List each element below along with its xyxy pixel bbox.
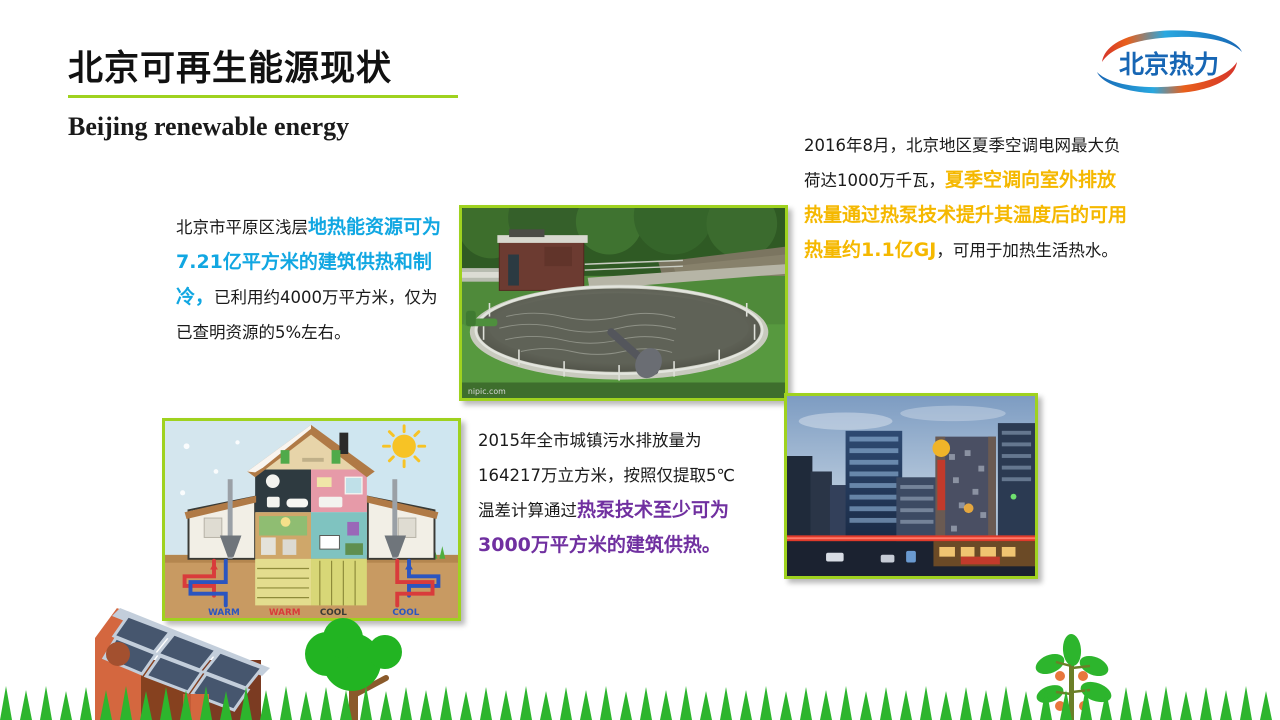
photo-watermark: nipic.com (468, 387, 506, 396)
geothermal-run-plain-1: 北京市平原区浅层 (176, 218, 308, 237)
house-diagram-image: WARM WARM COOL COOL (165, 421, 458, 618)
wastewater-treatment-plant-photo: nipic.com (459, 205, 788, 401)
slide-canvas: 北京热力 北京可再生能源现状 Beijing renewable energy … (0, 0, 1280, 720)
sun-icon (384, 426, 425, 467)
beijing-city-skyline-photo (784, 393, 1038, 579)
wwtp-image: nipic.com (462, 208, 785, 398)
city-image (787, 396, 1035, 576)
page-title: 北京可再生能源现状 (68, 50, 488, 89)
ac-run-plain-2: ，可用于加热生活热水。 (936, 241, 1118, 260)
geothermal-resource-text: 北京市平原区浅层地热能资源可为7.21亿平方米的建筑供热和制冷，已利用约4000… (176, 210, 444, 350)
geothermal-run-plain-2: 已利用约4000万平方米，仅为已查明资源的5%左右。 (176, 288, 438, 342)
page-subtitle: Beijing renewable energy (68, 112, 488, 142)
bottom-decoration (0, 590, 1280, 720)
air-conditioning-waste-heat-text: 2016年8月，北京地区夏季空调电网最大负荷达1000万千瓦，夏季空调向室外排放… (804, 128, 1130, 268)
sewage-heat-text: 2015年全市城镇污水排放量为164217万立方米，按照仅提取5℃温差计算通过热… (478, 423, 736, 563)
logo-wordmark: 北京热力 (1119, 50, 1219, 79)
title-underline (68, 95, 458, 98)
beijing-district-heating-logo: 北京热力 (1092, 26, 1247, 98)
title-block: 北京可再生能源现状 Beijing renewable energy (68, 50, 488, 142)
logo-graphic: 北京热力 (1092, 26, 1247, 98)
decoration-graphic (0, 590, 1280, 720)
